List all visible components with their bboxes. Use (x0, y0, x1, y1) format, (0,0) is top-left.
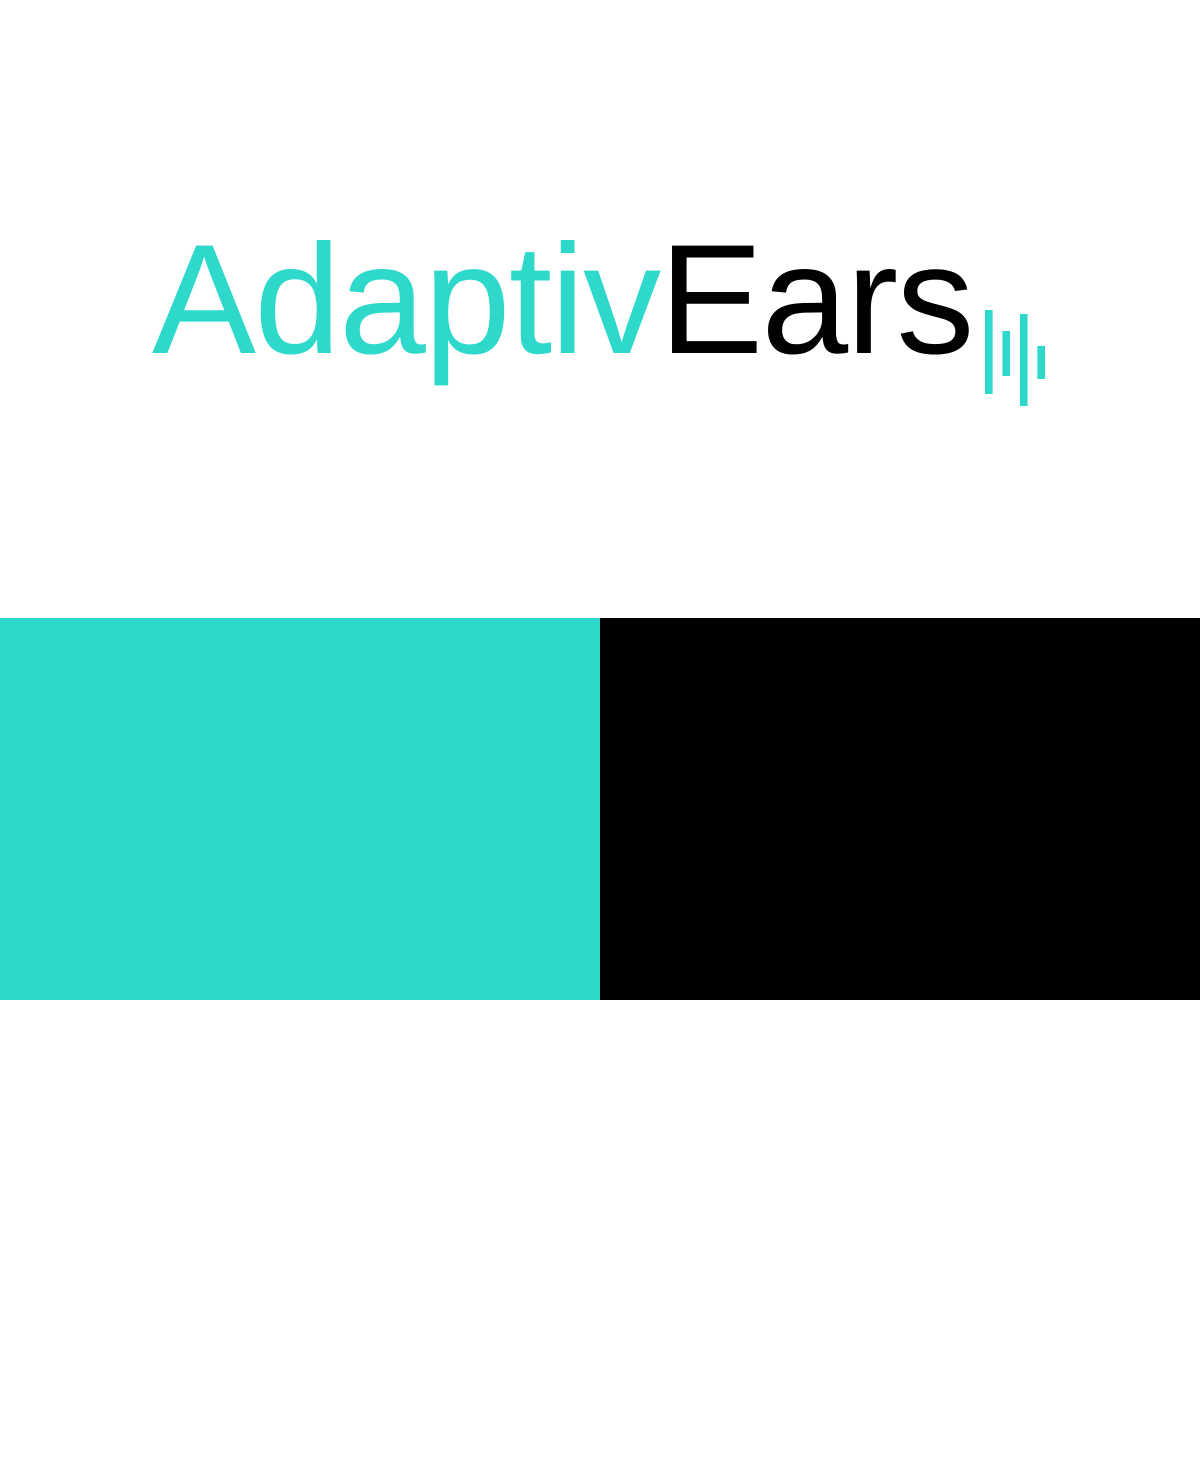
teal-background-panel: Adaptiv Ears (0, 618, 600, 1000)
waveform-icon (421, 1424, 446, 1464)
logo-presentation-board: Adaptiv Ears Adaptiv Ears (0, 0, 1200, 1000)
wordmark-ears: Ears (292, 1390, 417, 1452)
black-background-panel: Adaptiv Ears (600, 618, 1200, 1000)
wordmark-adaptiv: Adaptiv (152, 222, 659, 378)
primary-logo-panel: Adaptiv Ears (0, 0, 1200, 618)
waveform-icon (985, 310, 1045, 406)
logo-lockup-on-teal: Adaptiv Ears (90, 1390, 446, 1452)
wordmark-ears: Ears (659, 222, 972, 378)
wordmark-adaptiv: Adaptiv (90, 1390, 292, 1452)
logo-lockup-primary: Adaptiv Ears (152, 222, 1045, 378)
